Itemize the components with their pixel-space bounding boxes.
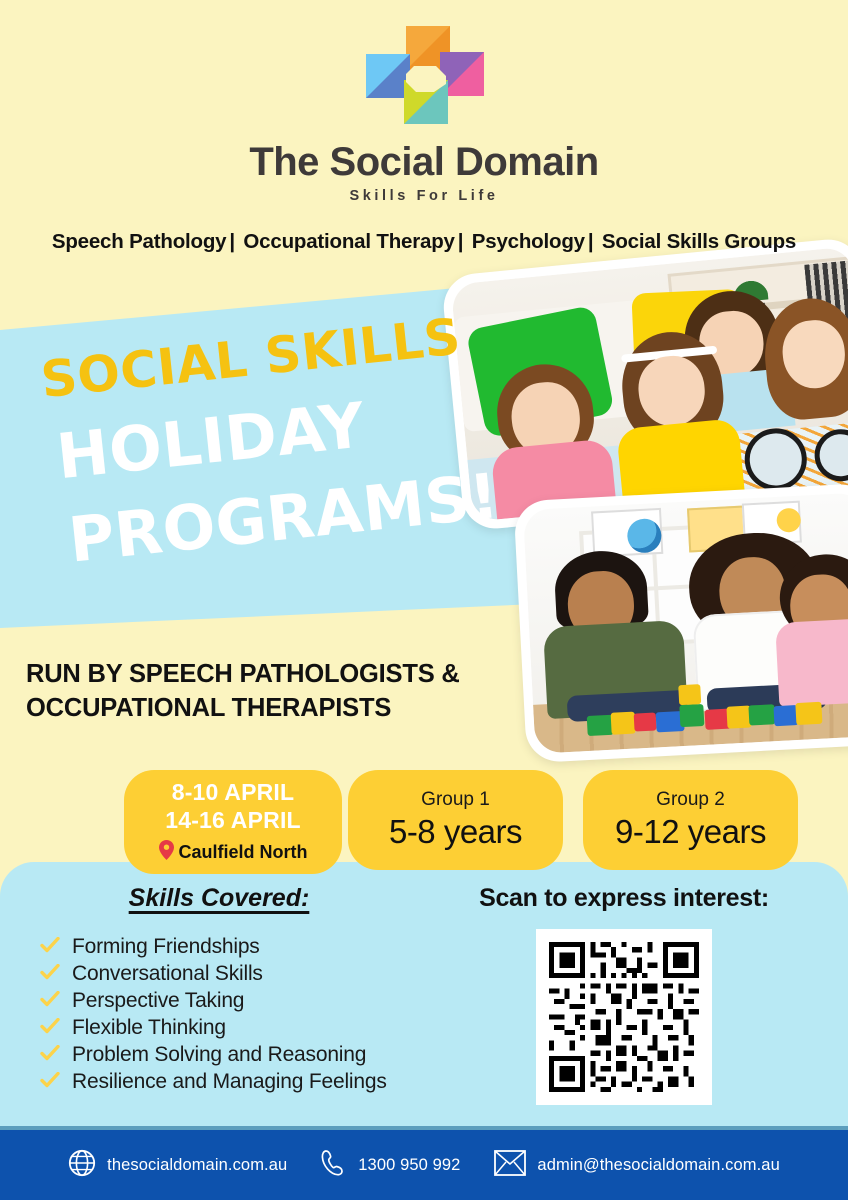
globe-icon — [68, 1149, 96, 1182]
run-by-text: RUN BY SPEECH PATHOLOGISTS & OCCUPATIONA… — [26, 657, 546, 726]
location-text: Caulfield North — [179, 842, 308, 863]
group-2-label: Group 2 — [656, 789, 725, 811]
service-occupational-therapy: Occupational Therapy — [243, 230, 454, 253]
list-item: Resilience and Managing Feelings — [40, 1070, 440, 1094]
header: The Social Domain Skills For Life Speech… — [0, 0, 848, 254]
brand-tagline: Skills For Life — [0, 188, 848, 204]
dates-line-1: 8-10 APRIL — [172, 779, 295, 806]
skill-label: Perspective Taking — [72, 989, 244, 1013]
brand-title: The Social Domain — [0, 140, 848, 185]
footer-email-text: admin@thesocialdomain.com.au — [537, 1156, 779, 1175]
run-by-line-1: RUN BY SPEECH PATHOLOGISTS & — [26, 657, 546, 691]
service-separator-1: | — [226, 230, 238, 253]
list-item: Conversational Skills — [40, 962, 440, 986]
check-icon — [40, 1045, 60, 1066]
service-social-skills-groups: Social Skills Groups — [602, 230, 796, 253]
skill-label: Forming Friendships — [72, 935, 260, 959]
list-item: Perspective Taking — [40, 989, 440, 1013]
check-icon — [40, 964, 60, 985]
check-icon — [40, 937, 60, 958]
dates-line-2: 14-16 APRIL — [165, 807, 301, 834]
check-icon — [40, 1072, 60, 1093]
check-icon — [40, 991, 60, 1012]
footer-email[interactable]: admin@thesocialdomain.com.au — [494, 1150, 779, 1181]
group-1-label: Group 1 — [421, 789, 490, 811]
map-pin-icon — [159, 840, 174, 865]
group-1-pill[interactable]: Group 1 5-8 years — [348, 770, 563, 870]
location-row: Caulfield North — [159, 840, 308, 865]
footer-phone[interactable]: 1300 950 992 — [321, 1149, 460, 1182]
list-item: Forming Friendships — [40, 935, 440, 959]
skill-label: Resilience and Managing Feelings — [72, 1070, 387, 1094]
skill-label: Problem Solving and Reasoning — [72, 1043, 366, 1067]
envelope-icon — [494, 1150, 526, 1181]
skill-label: Conversational Skills — [72, 962, 263, 986]
group-1-ages: 5-8 years — [389, 813, 522, 851]
footer: thesocialdomain.com.au 1300 950 992 admi… — [0, 1130, 848, 1200]
check-icon — [40, 1018, 60, 1039]
skill-label: Flexible Thinking — [72, 1016, 226, 1040]
group-2-pill[interactable]: Group 2 9-12 years — [583, 770, 798, 870]
footer-phone-text: 1300 950 992 — [358, 1156, 460, 1175]
group-2-ages: 9-12 years — [615, 813, 766, 851]
info-pills: 8-10 APRIL 14-16 APRIL Caulfield North G… — [0, 770, 848, 880]
qr-section: Scan to express interest: — [424, 884, 824, 1105]
qr-title: Scan to express interest: — [424, 884, 824, 913]
service-separator-3: | — [585, 230, 597, 253]
service-separator-2: | — [455, 230, 467, 253]
skills-list: Forming Friendships Conversational Skill… — [40, 935, 440, 1094]
service-psychology: Psychology — [472, 230, 585, 253]
footer-website[interactable]: thesocialdomain.com.au — [68, 1149, 287, 1182]
list-item: Flexible Thinking — [40, 1016, 440, 1040]
footer-website-text: thesocialdomain.com.au — [107, 1156, 287, 1175]
services-line: Speech Pathology| Occupational Therapy| … — [0, 230, 848, 254]
skills-title: Skills Covered: — [40, 884, 440, 913]
pinwheel-cross-logo — [358, 22, 490, 130]
poster: The Social Domain Skills For Life Speech… — [0, 0, 848, 1200]
run-by-line-2: OCCUPATIONAL THERAPISTS — [26, 691, 546, 725]
list-item: Problem Solving and Reasoning — [40, 1043, 440, 1067]
service-speech-pathology: Speech Pathology — [52, 230, 227, 253]
dates-pill[interactable]: 8-10 APRIL 14-16 APRIL Caulfield North — [124, 770, 342, 874]
headline: SOCIAL SKILLS HOLIDAY PROGRAMS! — [26, 332, 486, 550]
qr-code-icon[interactable] — [536, 929, 712, 1105]
photo-kids-with-blocks — [513, 483, 848, 763]
phone-icon — [321, 1149, 347, 1182]
skills-section: Skills Covered: Forming Friendships Conv… — [40, 884, 440, 1097]
